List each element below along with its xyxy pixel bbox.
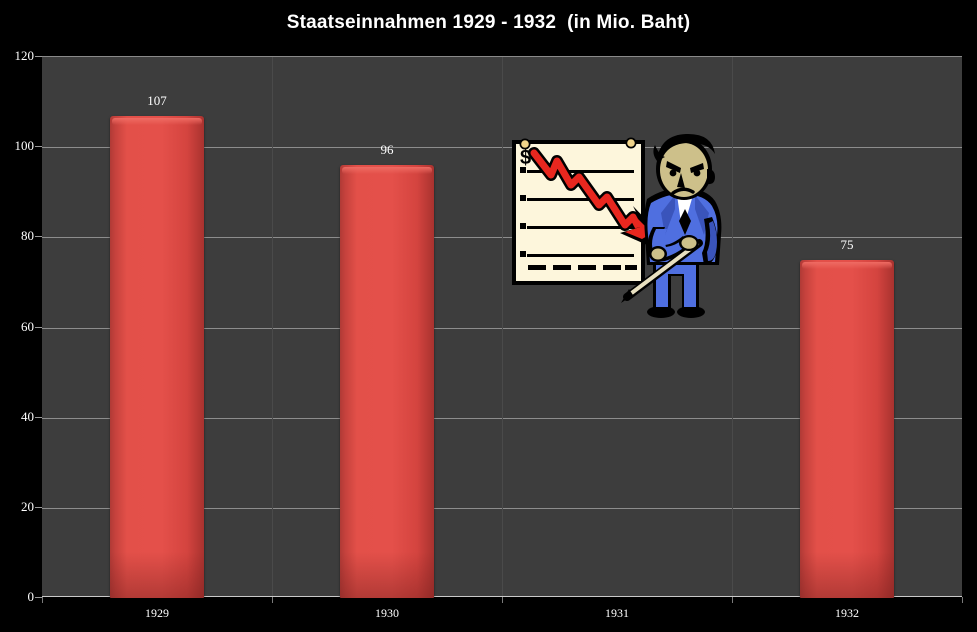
category-divider [502, 57, 503, 597]
clipart-businessman-declining-chart: $ [507, 131, 722, 326]
bar-value-label: 96 [381, 142, 394, 158]
hand-left [682, 237, 697, 249]
y-axis-tick-label: 80 [0, 228, 34, 244]
x-axis-tick-label: 1930 [375, 606, 399, 621]
plot-area [42, 56, 962, 597]
x-axis-tick-label: 1931 [605, 606, 629, 621]
chart-figure: Staatseinnahmen 1929 - 1932 (in Mio. Bah… [0, 0, 977, 632]
eye-right [694, 170, 701, 177]
x-axis-tick-mark [42, 597, 43, 603]
y-axis-tick-label: 100 [0, 138, 34, 154]
x-axis-tick-mark [272, 597, 273, 603]
y-axis-tick-label: 120 [0, 48, 34, 64]
x-axis-tick-label: 1929 [145, 606, 169, 621]
category-divider [272, 57, 273, 597]
poster-group: $ [512, 138, 663, 286]
x-axis-tick-label: 1932 [835, 606, 859, 621]
y-axis-tick-mark [35, 56, 42, 57]
bar-value-label: 75 [841, 237, 854, 253]
y-axis-tick-label: 60 [0, 319, 34, 335]
x-axis-tick-mark [502, 597, 503, 603]
bar [110, 116, 203, 598]
chart-title: Staatseinnahmen 1929 - 1932 (in Mio. Bah… [0, 12, 977, 34]
bar [340, 165, 433, 598]
y-axis-tick-mark [35, 236, 42, 237]
y-axis-tick-label: 0 [0, 589, 34, 605]
y-axis-tick-label: 20 [0, 499, 34, 515]
y-axis-tick-mark [35, 327, 42, 328]
bar [800, 260, 893, 598]
hand-right [652, 249, 665, 260]
y-axis-tick-mark [35, 417, 42, 418]
y-axis-tick-mark [35, 597, 42, 598]
y-axis-tick-mark [35, 507, 42, 508]
x-axis-tick-mark [732, 597, 733, 603]
bar-value-label: 107 [147, 93, 167, 109]
eye-left [670, 170, 677, 177]
x-axis-tick-mark [962, 597, 963, 603]
y-axis-tick-label: 40 [0, 409, 34, 425]
category-divider [732, 57, 733, 597]
y-axis-tick-mark [35, 146, 42, 147]
